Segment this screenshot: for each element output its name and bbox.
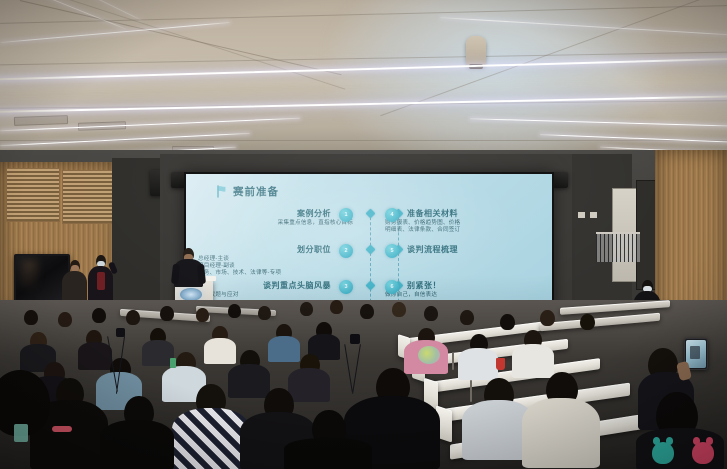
flow-item[interactable]: 5 谈判流程梳理	[385, 244, 540, 280]
ceiling-projector-icon	[466, 36, 486, 66]
flow-item-number: 1	[339, 208, 353, 222]
wall-louver-vent	[62, 170, 114, 224]
audience-head	[330, 300, 343, 314]
flow-column-left: 1 案例分析 采集重点信息，直指核心目标	[198, 208, 353, 244]
stair-railing	[596, 232, 640, 262]
audience-head	[196, 308, 209, 322]
audience-body	[522, 398, 600, 468]
tripod-head	[116, 328, 125, 337]
audience-head	[500, 314, 515, 330]
flow-item-detail: 总经理-主谈 项目经理-副谈 财务、市场、技术、法律等-专项	[198, 256, 353, 278]
tripod-camera	[350, 334, 360, 344]
flow-item[interactable]: 2 划分职位 总经理-主谈 项目经理-副谈 财务、市场、技术、法律等-专项	[198, 244, 353, 280]
phone-screen	[686, 340, 706, 368]
desk-leg	[452, 352, 454, 370]
desk-row	[540, 313, 660, 331]
audience-head	[300, 302, 313, 316]
flow-column-right: 4 准备相关材料 财务报表、价格趋势图、价格 明细表、法律条款、合同签订	[385, 208, 540, 244]
flow-diamond-marker	[365, 281, 375, 291]
audience-body	[228, 364, 270, 398]
seating-area	[0, 300, 727, 469]
flow-item-heading: 别紧张！	[385, 280, 540, 291]
audience-body	[288, 368, 330, 402]
audience-body	[204, 338, 236, 364]
flow-item-number: 4	[385, 208, 399, 222]
audience-body	[100, 420, 174, 469]
phone-case	[52, 426, 72, 432]
audience-head	[92, 308, 106, 323]
flow-item-heading: 谈判流程梳理	[385, 244, 540, 255]
flow-item-heading: 准备相关材料	[385, 208, 540, 219]
audience-head	[580, 314, 595, 330]
audience-body	[458, 348, 498, 380]
drink-bottle	[170, 358, 176, 368]
slide-title-text: 赛前准备	[233, 184, 279, 199]
audience-head	[540, 310, 555, 326]
audience-head	[160, 306, 174, 321]
wall-switch-plate	[590, 212, 597, 218]
wall-louver-vent	[6, 168, 60, 222]
audience-body	[512, 344, 554, 378]
audience-body	[78, 342, 112, 370]
shirt-bear-graphic-teal	[652, 442, 674, 464]
wall-switch-plate	[578, 212, 585, 218]
desk-leg	[470, 380, 472, 402]
flow-diamond-marker	[365, 245, 375, 255]
tripod-leg	[344, 344, 352, 392]
audience-head	[360, 304, 374, 319]
audience-head	[258, 306, 271, 320]
flow-item[interactable]: 1 案例分析 采集重点信息，直指核心目标	[198, 208, 353, 244]
shirt-bear-graphic-pink	[692, 442, 714, 464]
audience-head	[228, 304, 241, 318]
ceiling-vent	[14, 115, 68, 126]
water-bottle	[14, 424, 28, 442]
flow-item-number: 6	[385, 280, 399, 294]
slide-title: 赛前准备	[216, 184, 279, 199]
shirt-graphic	[418, 346, 440, 364]
projection-screen[interactable]: 赛前准备 1 案例分析 采集重点信息，直指核心目标	[186, 174, 552, 318]
flow-connector-line	[370, 212, 371, 312]
audience-head	[424, 306, 438, 321]
flow-item-heading: 谈判重点头脑风暴	[198, 280, 353, 291]
audience-head	[460, 310, 474, 325]
flow-item-detail: 采集重点信息，直指核心目标	[198, 220, 353, 227]
staff-shirt-accent	[97, 272, 105, 290]
flow-item-detail: 做你自己，自信表达	[385, 292, 540, 299]
ceiling-light-glow	[330, 0, 660, 170]
flag-icon	[216, 185, 227, 198]
flow-item-number: 5	[385, 244, 399, 258]
flow-item[interactable]: 4 准备相关材料 财务报表、价格趋势图、价格 明细表、法律条款、合同签订	[385, 208, 540, 244]
wall-speaker	[553, 172, 568, 188]
flow-item-heading: 案例分析	[198, 208, 353, 219]
audience-head	[24, 310, 38, 325]
flow-column-right: 5 谈判流程梳理	[385, 244, 540, 280]
audience-head	[392, 302, 406, 317]
flow-column-left: 2 划分职位 总经理-主谈 项目经理-副谈 财务、市场、技术、法律等-专项	[198, 244, 353, 280]
drink-cup	[496, 358, 505, 370]
flow-item-number: 3	[339, 280, 353, 294]
audience-body-plaid	[172, 408, 250, 469]
flow-item-heading: 划分职位	[198, 244, 353, 255]
flow-item-number: 2	[339, 244, 353, 258]
flow-item-detail: 财务报表、价格趋势图、价格 明细表、法律条款、合同签订	[385, 220, 540, 234]
flow-item-detail: 关键议题与应对	[198, 292, 353, 299]
tripod-leg	[352, 344, 361, 394]
audience-body	[268, 336, 300, 362]
audience-head	[126, 310, 140, 325]
lecture-hall-photo: 赛前准备 1 案例分析 采集重点信息，直指核心目标	[0, 0, 727, 469]
audience-body-foreground	[284, 438, 372, 469]
audience-head	[58, 312, 72, 327]
flow-diamond-marker	[365, 209, 375, 219]
